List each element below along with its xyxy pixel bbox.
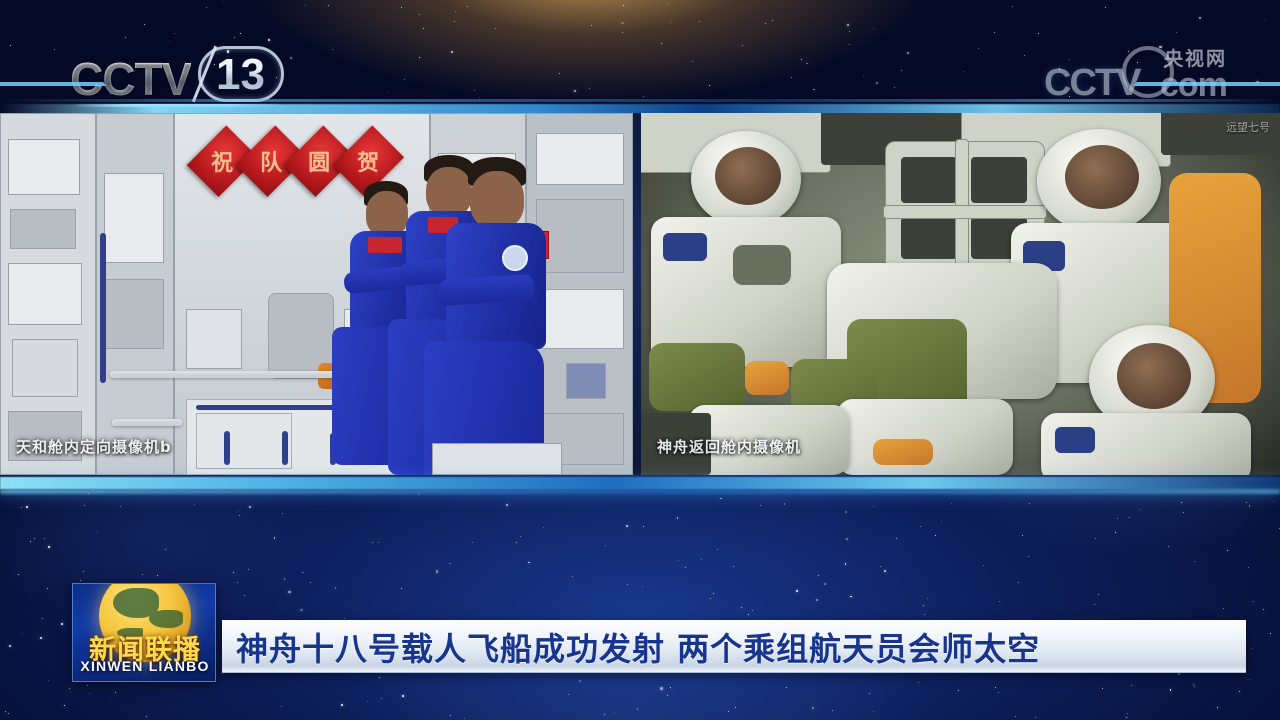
frame-glow-bottom-soft xyxy=(0,489,1280,494)
cctv-channel-number: 13 xyxy=(216,50,265,100)
headline-text: 神舟十八号载人飞船成功发射 两个乘组航天员会师太空 xyxy=(222,624,1040,670)
camera-label-right: 神舟返回舱内摄像机 xyxy=(657,436,801,457)
headline-bar: 神舟十八号载人飞船成功发射 两个乘组航天员会师太空 xyxy=(222,620,1246,673)
broadcast-screen: CCTV 13 新 闻 CCTV 央视网 com xyxy=(0,0,1280,720)
video-panel-right[interactable]: 远望七号 神舟返回舱内摄像机 xyxy=(641,113,1280,475)
chevron-accent-left xyxy=(0,82,125,108)
frame-glow-bottom xyxy=(0,477,1280,489)
camera-label-left: 天和舱内定向摄像机b xyxy=(16,436,172,457)
astronaut-figure xyxy=(424,141,564,475)
chevron-accent-right xyxy=(1115,82,1280,108)
video-split-view: 祝 队 圆 贺 xyxy=(0,113,1280,475)
tracking-ship-name: 远望七号 xyxy=(1226,121,1270,136)
tianhe-interior-scene: 祝 队 圆 贺 xyxy=(0,113,633,475)
program-name-en: XINWEN LIANBO xyxy=(73,658,216,674)
video-panel-left[interactable]: 祝 队 圆 贺 xyxy=(0,113,633,475)
xinwen-lianbo-logo: 新闻联播 XINWEN LIANBO xyxy=(72,583,216,682)
tracking-ship-tag: 远望七号 xyxy=(1226,121,1270,136)
shenzhou-capsule-scene xyxy=(641,113,1280,475)
panel-divider xyxy=(633,113,641,475)
frame-glow-top-thin xyxy=(0,99,1280,102)
